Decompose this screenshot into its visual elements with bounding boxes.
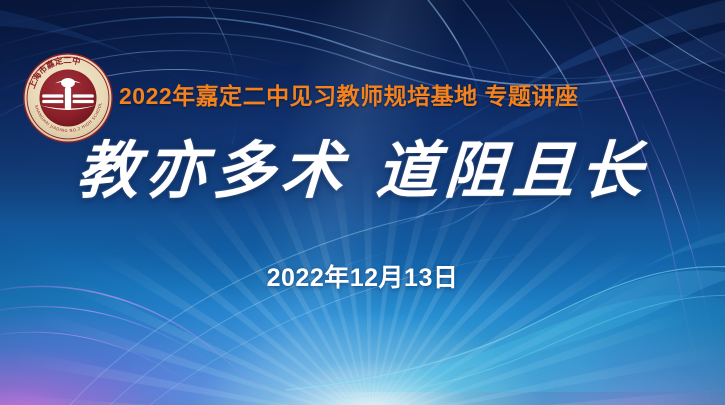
presentation-title-slide: 上海市嘉定二中 SHANGHAI JIADING NO.2 HIGH SCHOO… bbox=[0, 0, 725, 405]
event-date: 2022年12月13日 bbox=[0, 258, 725, 294]
header-title: 2022年嘉定二中见习教师规培基地 专题讲座 bbox=[119, 77, 579, 111]
school-emblem-icon: 上海市嘉定二中 SHANGHAI JIADING NO.2 HIGH SCHOO… bbox=[22, 52, 114, 144]
school-emblem-logo: 上海市嘉定二中 SHANGHAI JIADING NO.2 HIGH SCHOO… bbox=[22, 52, 114, 144]
page-title: 教亦多术 道阻且长 bbox=[0, 138, 725, 203]
